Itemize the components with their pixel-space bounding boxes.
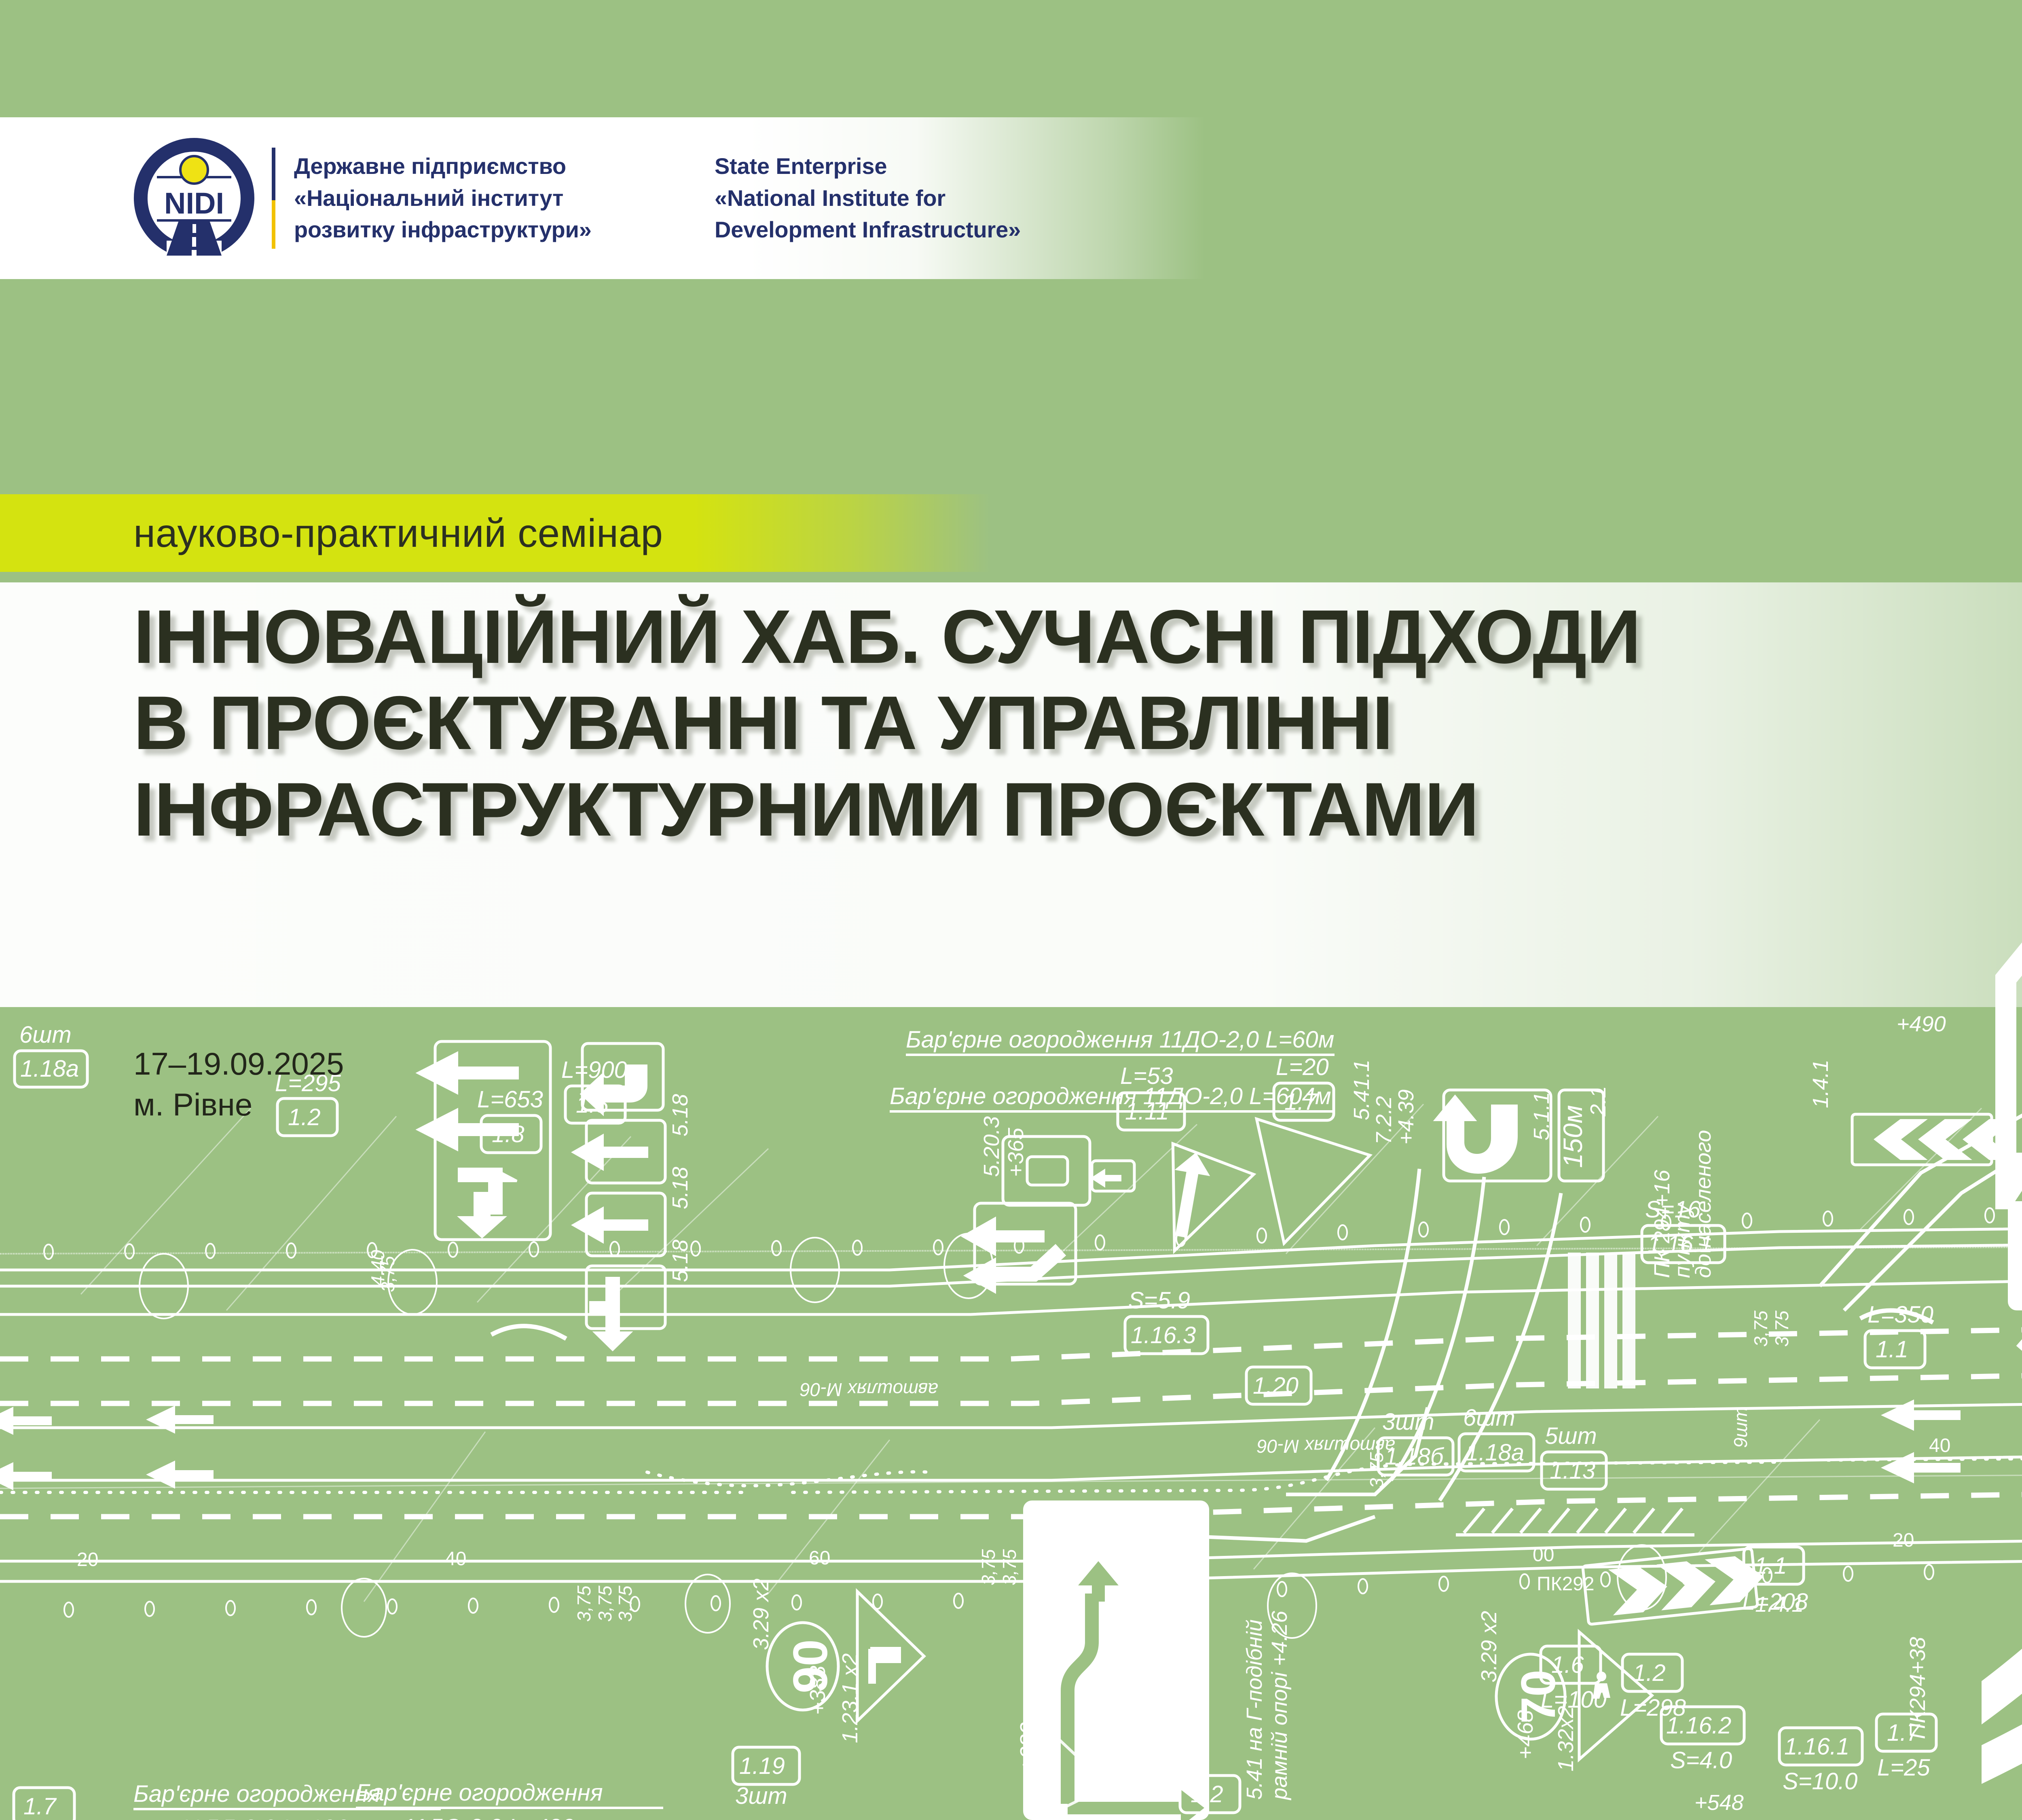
- sign-label: 5.18: [668, 1094, 692, 1136]
- event-type-ribbon: науково-практичний семінар: [0, 494, 991, 572]
- sign-label: до населеного: [1691, 1130, 1715, 1278]
- barrier-note: 11ДД-2,0 L=126м: [178, 1815, 364, 1820]
- sign-guidepost-triangle: [857, 1591, 924, 1721]
- callout-len: L=900: [561, 1057, 627, 1083]
- sign-label: 3.29 x2: [749, 1579, 773, 1650]
- logo-en-line-2: «National Institute for: [715, 182, 1168, 214]
- sign-chevron-panel-right: [1583, 1548, 1764, 1624]
- callout-code: 1.18а: [20, 1056, 79, 1082]
- sign-label: +468: [1513, 1710, 1538, 1759]
- sign-label: 7.2.2: [1372, 1096, 1396, 1145]
- callout-qty: 6шт: [19, 1022, 72, 1048]
- header-logo-band: NIDI Державне підприємство State Enterpr…: [0, 117, 1205, 279]
- width-label: 3,75: [978, 1549, 999, 1585]
- sign-lane-direction-left: [418, 1041, 550, 1240]
- width-label: 3,75: [1750, 1310, 1771, 1347]
- sign-label: +383: [1016, 1722, 1040, 1771]
- event-meta: 17–19.09.2025 м. Рівне: [133, 1043, 344, 1126]
- title-line-2: В ПРОЄКТУВАННІ ТА УПРАВЛІННІ: [133, 680, 2022, 766]
- sign-label: 2.1: [1586, 1086, 1610, 1117]
- callout-qty: 3шт: [1382, 1409, 1434, 1435]
- callout-qty: 6шт: [1463, 1405, 1515, 1431]
- callout-code: 1.1: [1754, 1553, 1787, 1579]
- callout-code: 1.20: [1253, 1373, 1299, 1399]
- chainage: 20: [1893, 1530, 1914, 1551]
- width-label: 3,75: [377, 1256, 398, 1292]
- nidi-logo-icon: NIDI: [133, 138, 255, 259]
- barrier-note: Бар'єрне огородження: [133, 1781, 381, 1807]
- sign-give-way: [1240, 1119, 1373, 1253]
- chainage: 20: [77, 1549, 98, 1570]
- svg-text:NIDI: NIDI: [164, 186, 224, 220]
- callout-area: S=4.0: [1670, 1747, 1732, 1773]
- sign-label: 1.32x2: [1554, 1706, 1578, 1771]
- page-title: ІННОВАЦІЙНИЙ ХАБ. СУЧАСНІ ПІДХОДИ В ПРОЄ…: [133, 594, 2022, 853]
- sign-arrow-triangle: [1155, 1144, 1256, 1262]
- title-line-1: ІННОВАЦІЙНИЙ ХАБ. СУЧАСНІ ПІДХОДИ: [133, 594, 2022, 680]
- width-label: 9шт: [1730, 1407, 1751, 1448]
- sign-label: +365: [1004, 1127, 1028, 1177]
- chainage: 80: [1173, 1546, 1194, 1567]
- callout-code: 1.18а: [1466, 1439, 1524, 1466]
- callout-code: 1.6: [1551, 1652, 1584, 1678]
- width-label: 3,75: [594, 1585, 615, 1622]
- callout-len: L=25: [1877, 1754, 1930, 1781]
- width-label: 3,75: [1366, 1452, 1387, 1488]
- chainage: 40: [1929, 1435, 1950, 1456]
- logo-en-line-1: State Enterprise: [715, 150, 1168, 182]
- event-location: м. Рівне: [133, 1084, 344, 1125]
- sign-label: +383: [806, 1666, 830, 1715]
- width-label: 3,75: [999, 1549, 1020, 1585]
- callout-code: 1.2: [1191, 1781, 1223, 1807]
- sign-label: 5.41.1: [1349, 1060, 1374, 1120]
- logo-ua-line-1: Державне підприємство: [294, 150, 715, 182]
- callout-code: 1.8: [492, 1121, 525, 1147]
- callout-code: 1.5: [576, 1092, 609, 1118]
- sign-label: 3.29 x2: [1477, 1611, 1501, 1682]
- sign-label: 5.1.1: [1529, 1092, 1554, 1141]
- callout-qty: 5шт: [1545, 1423, 1597, 1449]
- callout-code: 1.7: [23, 1793, 57, 1820]
- barrier-note: Бар'єрне огородження: [356, 1780, 603, 1806]
- width-label: 3,75: [1771, 1310, 1792, 1347]
- logo-text-block: Державне підприємство State Enterprise «…: [294, 150, 1168, 245]
- sign-label: 1.23.1 x2: [838, 1653, 862, 1743]
- chainage: ПК292: [1537, 1573, 1595, 1595]
- logo-en-line-3: Development Infrastructure»: [715, 214, 1168, 245]
- callout-area: S=10.0: [1783, 1768, 1857, 1795]
- logo-ua-line-2: «Національний інститут: [294, 182, 715, 214]
- sign-label: +490: [1897, 1012, 1946, 1036]
- highway-label: автошлях М-06: [1257, 1436, 1395, 1457]
- sign-label: 5.18: [668, 1240, 692, 1282]
- sign-label: +548: [1694, 1790, 1744, 1815]
- callout-code: 1.1: [1876, 1336, 1908, 1363]
- chainage: 60: [809, 1547, 830, 1569]
- logo-divider: [272, 148, 275, 249]
- technical-road-plan: .ln { stroke:#ffffff; fill:none; } .lnf …: [0, 1003, 2022, 1820]
- sign-label: рамній опорі +4.26: [1267, 1610, 1292, 1801]
- barrier-note: 11ДО-2,0 L=420м: [402, 1814, 590, 1820]
- event-dates: 17–19.09.2025: [133, 1043, 344, 1084]
- callout-code: 1.16.3: [1131, 1322, 1196, 1348]
- sign-label: 1.4.1: [1808, 1060, 1833, 1108]
- plate-150m-text: 150м: [1558, 1105, 1588, 1168]
- callout-area: S=5.9: [1128, 1287, 1190, 1314]
- sign-5-18-group: [573, 1043, 665, 1350]
- callout-code: 1.16.1: [1784, 1733, 1849, 1760]
- barrier-note: Бар'єрне огородження 11ДО-2,0 L=60м: [906, 1026, 1334, 1053]
- callout-code: 1.19: [739, 1753, 785, 1779]
- callout-code: 1.2: [1633, 1660, 1666, 1686]
- highway-label: автошлях М-06: [800, 1379, 938, 1400]
- sign-up-arrow-post: [2008, 1153, 2022, 1310]
- sign-label: 5.18: [668, 1167, 692, 1209]
- callout-code: 1.13: [1550, 1458, 1595, 1484]
- event-type-label: науково-практичний семінар: [133, 510, 663, 556]
- logo-ua-line-3: розвитку інфраструктури»: [294, 214, 715, 245]
- callout-len: L=20: [1276, 1054, 1329, 1080]
- sign-label: ПК294+38: [1906, 1637, 1930, 1739]
- sign-label: 1.4.1: [1755, 1592, 1804, 1617]
- callout-qty: 3шт: [735, 1783, 787, 1809]
- width-label: 3,75: [573, 1585, 594, 1622]
- chainage: 40: [445, 1548, 466, 1570]
- title-line-3: ІНФРАСТРУКТУРНИМИ ПРОЄКТАМИ: [133, 766, 2022, 853]
- barrier-note: Бар'єрне огородження 11ДО-2,0 L=604м: [890, 1083, 1331, 1109]
- width-label: 3,75: [615, 1585, 636, 1622]
- sign-label: +4.39: [1394, 1089, 1418, 1145]
- sign-label: ПК 294+16: [1650, 1169, 1674, 1278]
- poster-root: .ln { stroke:#ffffff; fill:none; } .lnf …: [0, 0, 2022, 1820]
- chainage: 00: [1533, 1544, 1554, 1566]
- sign-label: 5.20.3: [979, 1116, 1004, 1177]
- callout-len: L=653: [477, 1086, 543, 1113]
- callout-code: 1.16.2: [1666, 1712, 1731, 1739]
- sign-label: 5.41 на Г-подібній: [1242, 1619, 1267, 1800]
- callout-len: L=350: [1868, 1302, 1933, 1328]
